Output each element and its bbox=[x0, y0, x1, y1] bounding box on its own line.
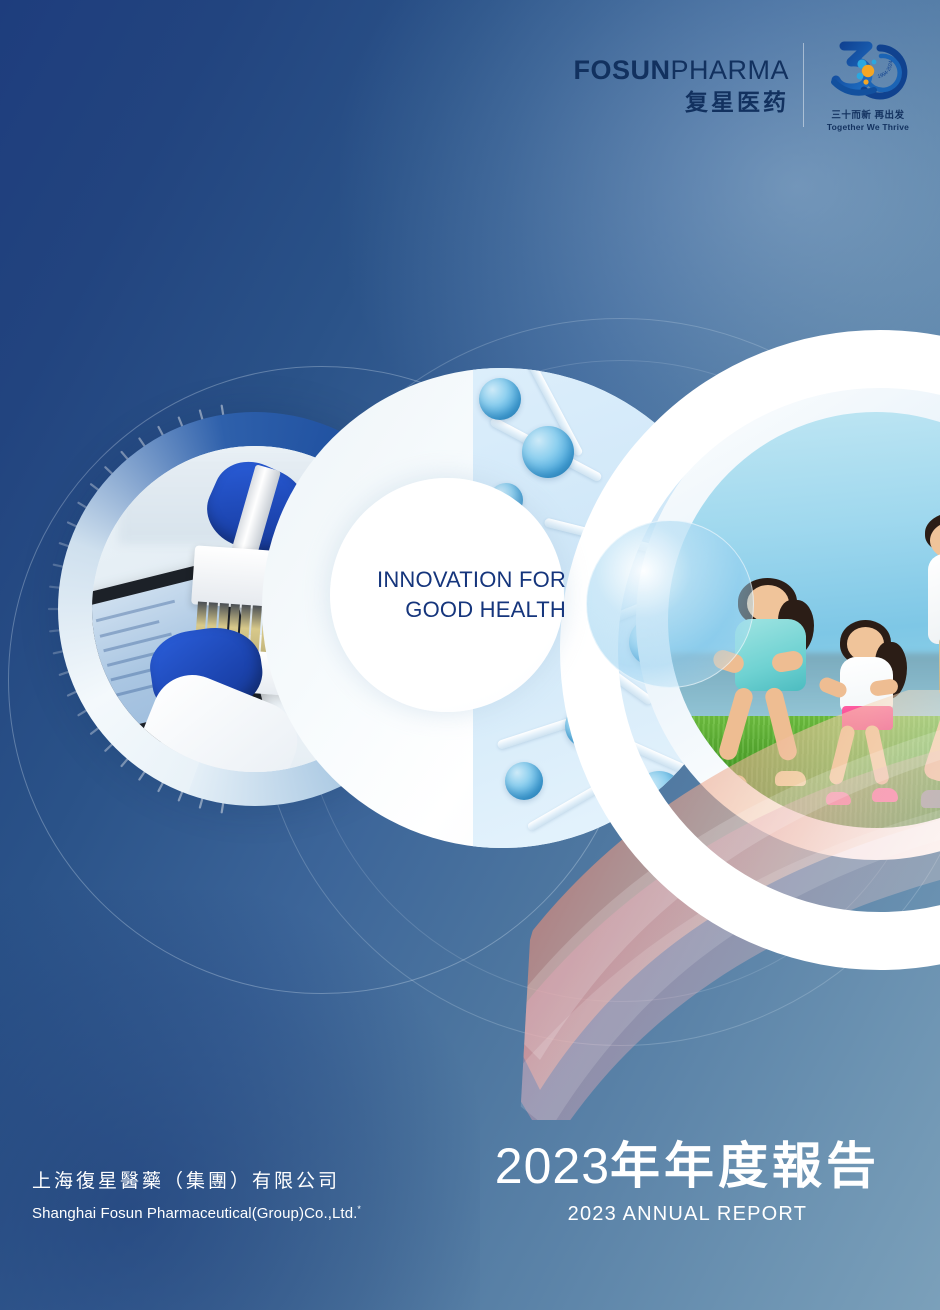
report-title-block: 2023年年度報告 2023 ANNUAL REPORT bbox=[495, 1141, 880, 1226]
fosun-wordmark: FOSUNPHARMA 复星医药 bbox=[573, 57, 789, 114]
anniversary-30-icon: 1994-2024 bbox=[818, 38, 918, 100]
svg-text:1994-2024: 1994-2024 bbox=[877, 60, 894, 80]
company-name-block: 上海復星醫藥（集團）有限公司 Shanghai Fosun Pharmaceut… bbox=[32, 1170, 361, 1222]
person-father bbox=[884, 512, 940, 812]
brand-name-bold: FOSUN bbox=[573, 55, 670, 85]
anniversary-tagline-cn: 三十而新 再出发 bbox=[818, 107, 918, 121]
report-title-main: 2023年年度報告 bbox=[495, 1141, 880, 1191]
company-name-chinese: 上海復星醫藥（集團）有限公司 bbox=[32, 1170, 361, 1195]
report-title-english: 2023 ANNUAL REPORT bbox=[495, 1203, 880, 1226]
logo-divider bbox=[803, 43, 804, 127]
annual-report-cover: INNOVATION FOR GOOD HEALTH FOSUNPHARMA 复… bbox=[0, 0, 940, 1310]
translucent-bubble bbox=[586, 520, 754, 688]
slogan-text: INNOVATION FOR GOOD HEALTH bbox=[377, 565, 572, 624]
brand-name-chinese: 复星医药 bbox=[573, 91, 789, 114]
company-name-mark: * bbox=[357, 1204, 361, 1214]
report-title-chinese: 年年度報告 bbox=[610, 1138, 880, 1194]
company-name-english-text: Shanghai Fosun Pharmaceutical(Group)Co.,… bbox=[32, 1205, 357, 1222]
company-name-english: Shanghai Fosun Pharmaceutical(Group)Co.,… bbox=[32, 1204, 361, 1222]
brand-name-light: PHARMA bbox=[670, 55, 789, 85]
report-year: 2023 bbox=[495, 1138, 610, 1194]
brand-logo-block: FOSUNPHARMA 复星医药 bbox=[573, 38, 918, 132]
anniversary-ring-text: 1994-2024 bbox=[877, 60, 894, 80]
anniversary-logo: 1994-2024 三十而新 再出发 Together We Thrive bbox=[818, 38, 918, 132]
background-shadow-bottom-left bbox=[0, 890, 480, 1310]
slogan-circle: INNOVATION FOR GOOD HEALTH bbox=[330, 478, 564, 712]
anniversary-tagline-en: Together We Thrive bbox=[818, 122, 918, 132]
